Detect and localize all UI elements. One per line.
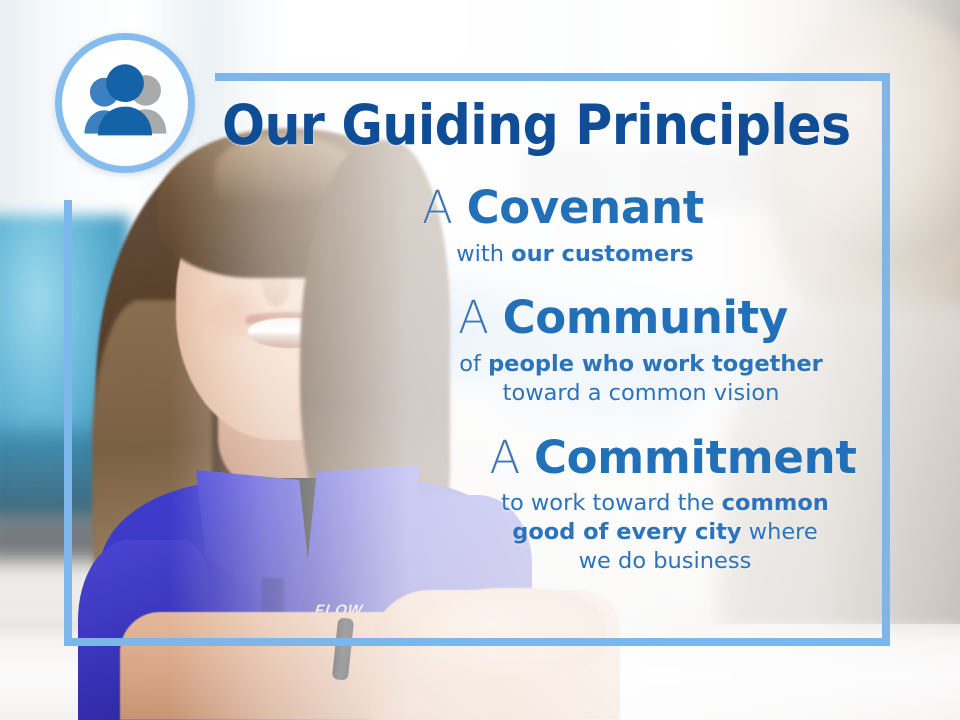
principle-commitment-subtext: to work toward the common good of every … <box>380 489 950 575</box>
principle-commitment-keyword: Commitment <box>534 431 857 484</box>
sub-line-1: of people who work together <box>356 350 926 379</box>
sub-bold-common: common <box>722 490 829 516</box>
sub-line-3: we do business <box>380 547 950 576</box>
people-group-icon <box>62 40 188 166</box>
sub-bold: our customers <box>511 241 694 267</box>
principle-community: A Community of people who work together … <box>338 294 908 407</box>
page-title: Our Guiding Principles <box>222 98 811 153</box>
principle-community-keyword: Community <box>503 291 788 344</box>
principle-commitment-heading: A Commitment <box>388 434 958 482</box>
principle-covenant-article: A <box>422 181 452 234</box>
principle-covenant: A Covenant with our customers <box>278 184 848 268</box>
principle-community-article: A <box>458 291 488 344</box>
sub-regular: with <box>456 241 511 267</box>
principles-list: A Covenant with our customers A Communit… <box>300 184 870 576</box>
people-group-badge <box>55 33 195 173</box>
sub-regular: of <box>459 351 488 377</box>
sub-line-2: toward a common vision <box>356 379 926 408</box>
principle-covenant-heading: A Covenant <box>278 184 848 232</box>
clasped-hands <box>420 588 605 678</box>
principle-commitment: A Commitment to work toward the common g… <box>388 434 958 576</box>
sub-bold-goodcity: good of every city <box>512 519 741 545</box>
principle-commitment-article: A <box>489 431 519 484</box>
sub-bold: people who work together <box>488 351 823 377</box>
principle-covenant-subtext: with our customers <box>290 240 860 269</box>
sub-line-2: good of every city where <box>380 518 950 547</box>
principle-community-heading: A Community <box>338 294 908 342</box>
guiding-principles-banner: FLOW FLOW AUTOMOTIVE Our Gu <box>0 0 960 720</box>
principle-community-subtext: of people who work together toward a com… <box>356 350 926 408</box>
principle-covenant-keyword: Covenant <box>467 181 704 234</box>
sub-line-1: to work toward the common <box>380 489 950 518</box>
